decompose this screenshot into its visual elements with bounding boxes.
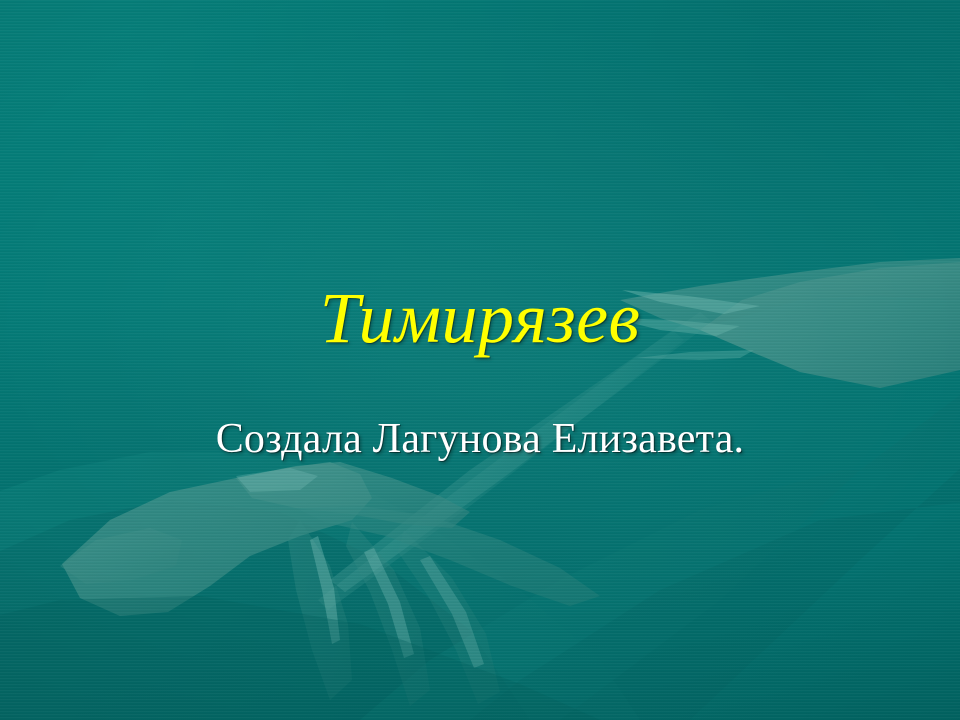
background-vignette — [0, 0, 960, 720]
slide-subtitle-text: Создала Лагунова Елизавета. — [216, 418, 745, 460]
presentation-slide: Тимирязев Создала Лагунова Елизавета. — [0, 0, 960, 720]
slide-title: Тимирязев — [0, 282, 960, 354]
slide-title-text: Тимирязев — [320, 282, 641, 354]
slide-subtitle: Создала Лагунова Елизавета. — [0, 418, 960, 460]
